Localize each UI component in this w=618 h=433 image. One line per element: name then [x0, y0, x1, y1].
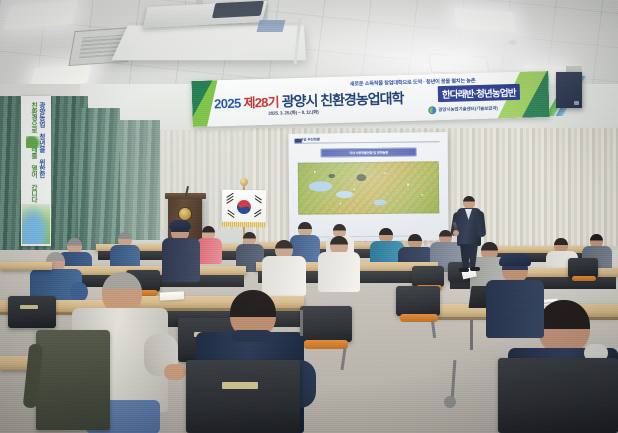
slide-aerial-map [298, 161, 440, 214]
organizer-name: 광양시농업기술센터(기술보급과) [438, 105, 498, 113]
banner-title: 광양시 친환경농업대학 [281, 88, 403, 111]
desk-leg [300, 310, 303, 336]
banner-date: 2025. 3. 25.(화) ~ 8. 12.(화) [268, 109, 318, 116]
leaf-icon [26, 136, 44, 148]
organizer-logo-icon [428, 106, 436, 114]
chair-seat[interactable] [572, 276, 596, 281]
presenter-shoe [459, 268, 469, 272]
chair[interactable] [300, 306, 352, 342]
flag-finial [240, 178, 248, 186]
flag-fringe [222, 222, 266, 228]
podium-emblem-icon [179, 208, 191, 220]
curtain-green [78, 108, 120, 258]
presenter [452, 196, 486, 272]
vertical-banner-line-1: 광양농업 청년을 위한한 [37, 102, 44, 206]
chair[interactable] [412, 266, 444, 287]
vertical-banner: 광양농업 청년을 위한한 친환경으로 미래를 열어 갑니다 [21, 96, 51, 246]
slide-caption-box: 국내 식량작물현황 및 정책동향 [321, 147, 417, 157]
projector-lens-glow [257, 20, 286, 32]
projection-screen: 1. 사업 추진현황 국내 식량작물현황 및 정책동향 [288, 132, 448, 242]
presenter-shoe [470, 267, 480, 271]
bag[interactable] [36, 330, 110, 430]
banner-organizer: 광양시농업기술센터(기술보급과) [428, 104, 498, 114]
banner-term: 제28기 [243, 92, 279, 112]
banner-class-tag: 한다래반·청년농업반 [438, 84, 520, 102]
collar [232, 330, 272, 342]
slide-header-text: 1. 사업 추진현황 [296, 137, 319, 142]
wall-speaker [556, 72, 582, 108]
korean-flag [222, 190, 267, 224]
hand [164, 364, 186, 380]
desk-front-center [128, 296, 304, 308]
desk-leg [470, 320, 473, 350]
vertical-banner-image [22, 204, 50, 244]
curtain-green [120, 120, 160, 240]
navy-cap-icon [169, 220, 191, 229]
chair[interactable] [396, 286, 440, 316]
slide-caption-text: 국내 식량작물현황 및 정책동향 [349, 150, 388, 155]
chair-seat[interactable] [304, 340, 348, 349]
chair[interactable] [568, 258, 598, 278]
desk-edge-left [0, 262, 52, 270]
taeguk-icon [237, 200, 251, 214]
navy-cap-icon [499, 253, 531, 266]
chair[interactable] [8, 296, 56, 328]
projector-body [212, 1, 264, 18]
handout-paper[interactable] [160, 291, 184, 300]
presenter-arm [476, 211, 487, 238]
chair-caster [444, 396, 456, 408]
chair[interactable] [186, 360, 300, 433]
chair[interactable] [498, 358, 618, 433]
lecture-hall-photo: 광양농업 청년을 위한한 친환경으로 미래를 열어 갑니다 새로운 소득작물 창… [0, 0, 618, 433]
presenter-hand [453, 230, 459, 236]
banner-year: 2025 [214, 96, 241, 112]
vertical-banner-line-2: 친환경으로 미래를 열어 갑니다 [29, 102, 36, 206]
